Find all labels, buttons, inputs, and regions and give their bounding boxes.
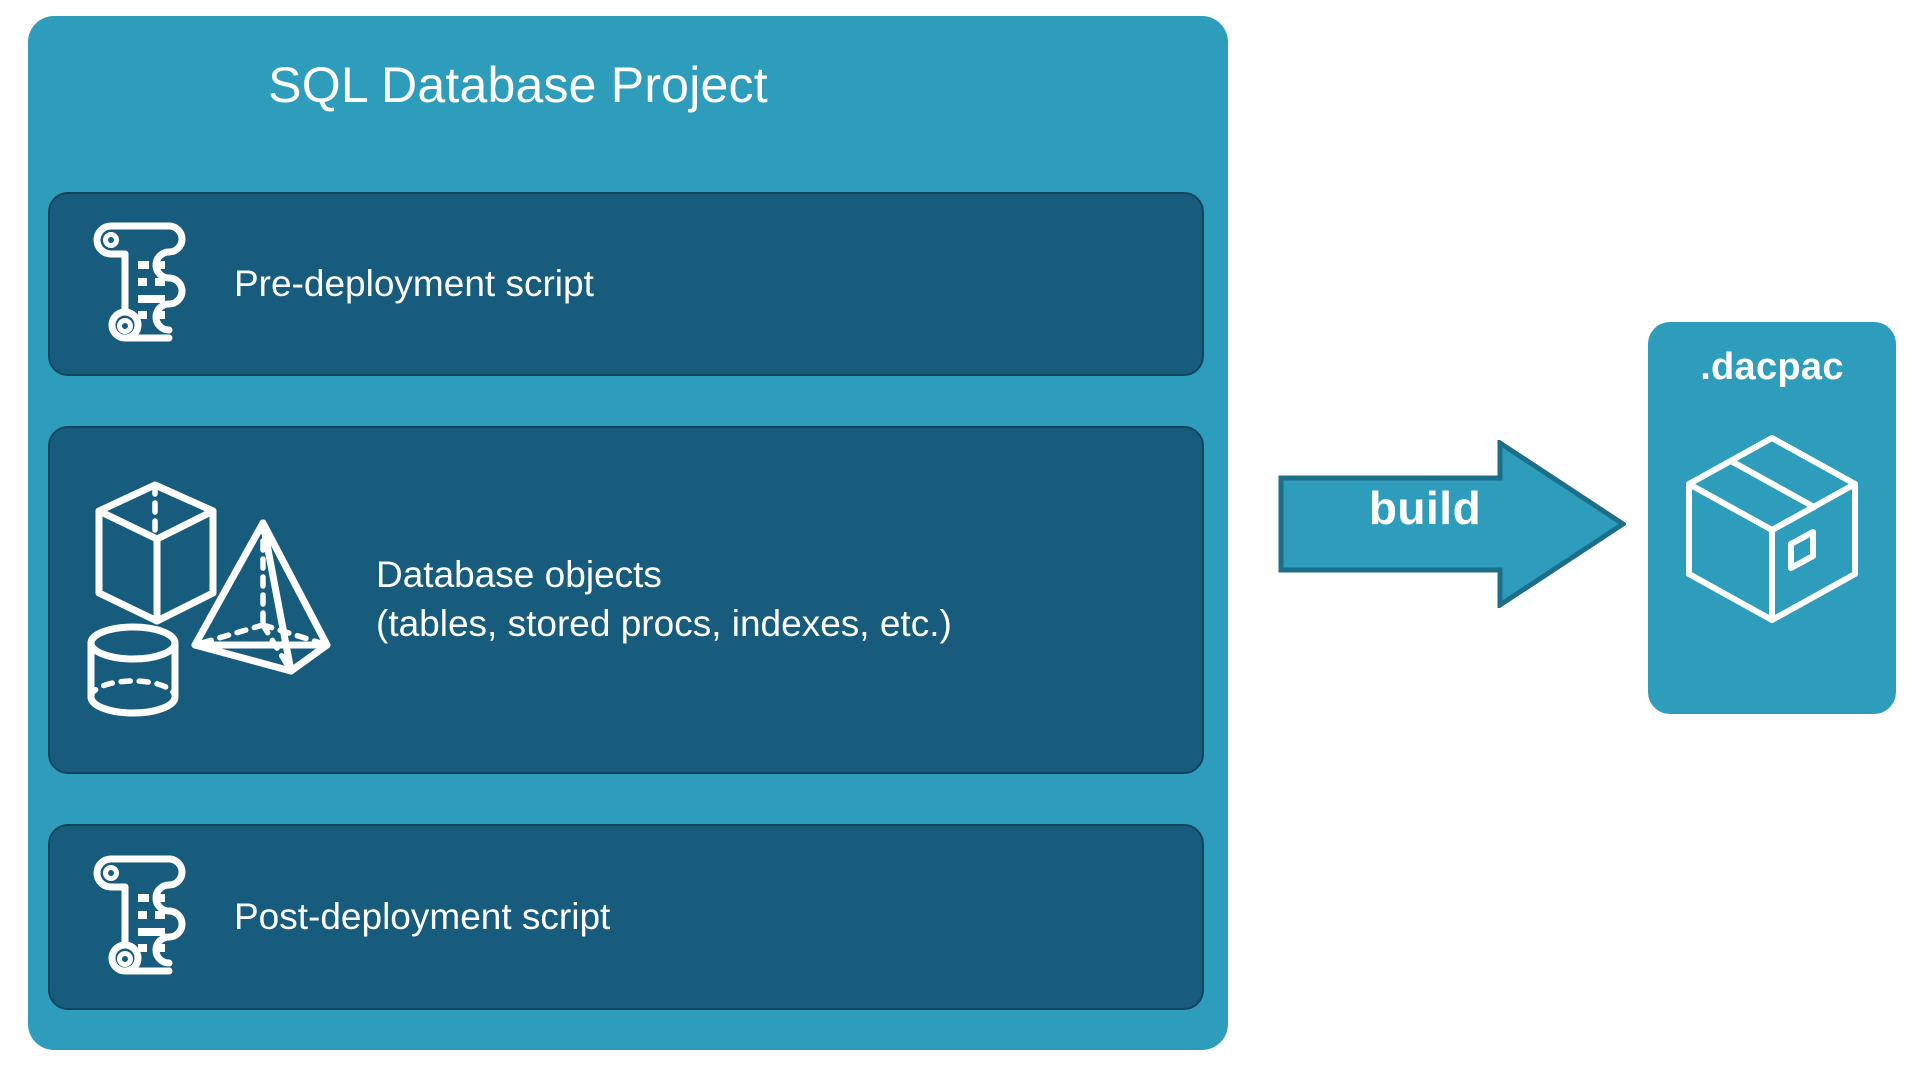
post-deployment-icon-group: [50, 849, 214, 985]
package-box-icon: [1683, 428, 1861, 628]
pre-deployment-script-card[interactable]: Pre-deployment script: [48, 192, 1204, 376]
sql-database-project-panel: SQL Database Project: [28, 16, 1228, 1050]
build-label: build: [1330, 485, 1520, 531]
pre-deployment-icon-group: [50, 216, 214, 352]
dacpac-label: .dacpac: [1648, 346, 1896, 389]
pre-deployment-script-label: Pre-deployment script: [214, 260, 1202, 309]
database-objects-icon-group: [50, 475, 368, 725]
database-objects-label: Database objects (tables, stored procs, …: [368, 551, 1202, 649]
page-title: SQL Database Project: [28, 58, 1008, 113]
scroll-icon: [81, 216, 197, 352]
database-objects-card[interactable]: Database objects (tables, stored procs, …: [48, 426, 1204, 774]
post-deployment-script-card[interactable]: Post-deployment script: [48, 824, 1204, 1010]
dacpac-output-box[interactable]: .dacpac: [1648, 322, 1896, 714]
cylinder-icon: [91, 627, 175, 713]
post-deployment-script-label: Post-deployment script: [214, 893, 1202, 942]
cube-icon: [99, 485, 213, 621]
scroll-icon: [81, 849, 197, 985]
